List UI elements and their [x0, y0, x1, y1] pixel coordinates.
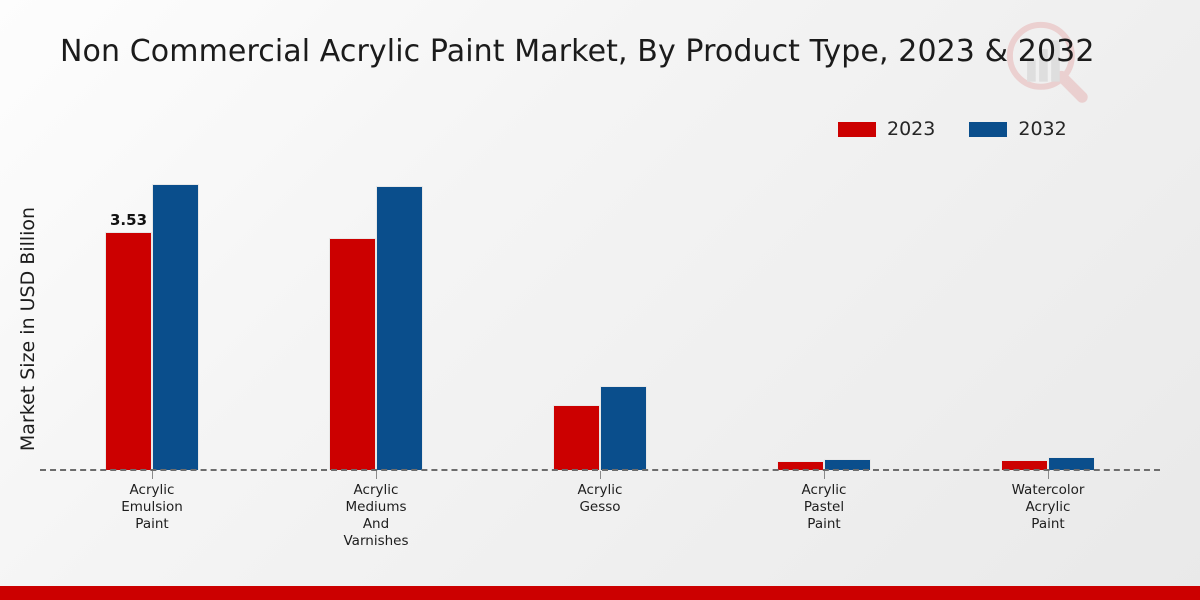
- bar-group: [712, 160, 936, 470]
- bar-2032[interactable]: [600, 386, 647, 470]
- x-axis-category-label: AcrylicPastelPaint: [739, 482, 909, 533]
- x-axis-category-label: AcrylicGesso: [515, 482, 685, 516]
- x-axis-tick: [1048, 471, 1049, 479]
- bar-2032[interactable]: [152, 184, 199, 470]
- bar-group: [488, 160, 712, 470]
- x-axis-category-label: AcrylicMediumsAndVarnishes: [291, 482, 461, 550]
- chart-legend: 2023 2032: [838, 120, 1067, 139]
- x-axis-category-label: WatercolorAcrylicPaint: [963, 482, 1133, 533]
- chart-canvas: Non Commercial Acrylic Paint Market, By …: [0, 0, 1200, 600]
- legend-item-2032[interactable]: 2032: [969, 120, 1066, 139]
- x-axis-tick: [824, 471, 825, 479]
- bar-2023[interactable]: [553, 405, 600, 470]
- chart-title: Non Commercial Acrylic Paint Market, By …: [60, 34, 1090, 69]
- bar-group: [936, 160, 1160, 470]
- legend-label-2023: 2023: [887, 120, 935, 139]
- x-axis-tick: [152, 471, 153, 479]
- x-axis-tick: [376, 471, 377, 479]
- legend-swatch-2023: [838, 122, 876, 137]
- bar-group: 3.53: [40, 160, 264, 470]
- footer-accent-bar: [0, 586, 1200, 600]
- x-axis-category-label: AcrylicEmulsionPaint: [67, 482, 237, 533]
- bar-2032[interactable]: [376, 186, 423, 470]
- bar-2023[interactable]: [329, 238, 376, 471]
- y-axis-title: Market Size in USD Billion: [17, 149, 39, 509]
- legend-item-2023[interactable]: 2023: [838, 120, 935, 139]
- bar-2023[interactable]: [105, 232, 152, 470]
- x-axis-tick: [600, 471, 601, 479]
- plot-area: 3.53: [40, 160, 1160, 470]
- legend-label-2032: 2032: [1018, 120, 1066, 139]
- legend-swatch-2032: [969, 122, 1007, 137]
- bar-value-label: 3.53: [110, 211, 147, 229]
- bar-group: [264, 160, 488, 470]
